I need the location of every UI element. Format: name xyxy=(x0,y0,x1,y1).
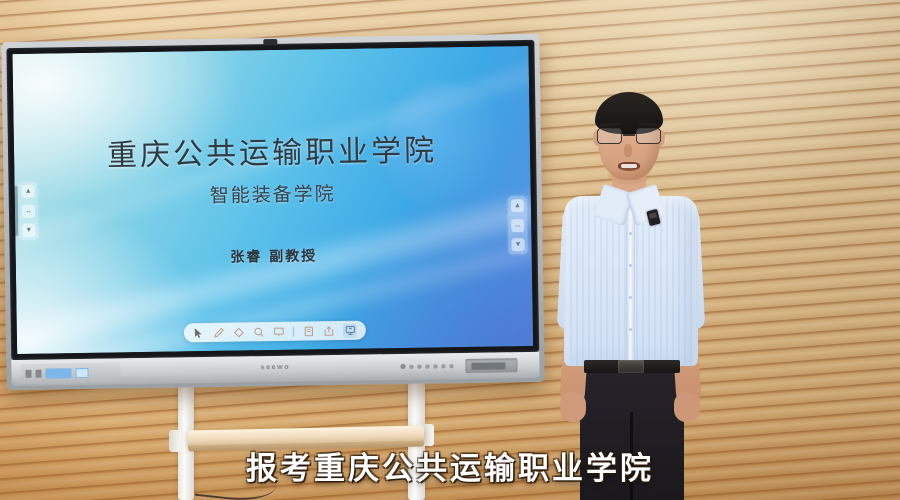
io-port-1[interactable] xyxy=(25,370,31,378)
magnifier-icon[interactable] xyxy=(253,326,264,337)
hw-button-4[interactable] xyxy=(433,364,437,368)
presenter-shirt-placket xyxy=(626,204,635,366)
io-sticker-white xyxy=(75,368,88,378)
io-port-2[interactable] xyxy=(35,370,41,378)
video-caption: 报考重庆公共运输职业学院 xyxy=(0,443,900,488)
presenter-hand-left xyxy=(560,392,586,422)
power-button[interactable] xyxy=(400,364,405,369)
presenter-belt-buckle xyxy=(618,360,644,373)
chevron-down-icon-right[interactable]: ▼ xyxy=(511,238,524,251)
presenter-person xyxy=(540,92,720,500)
glasses-lens-left xyxy=(597,128,622,144)
shirt-button-3 xyxy=(629,296,632,299)
shirt-button-2 xyxy=(629,264,632,267)
pen-icon[interactable] xyxy=(213,327,224,338)
shirt-button-4 xyxy=(629,328,632,331)
cursor-icon[interactable] xyxy=(193,327,204,338)
hw-button-3[interactable] xyxy=(425,364,429,368)
share-icon[interactable] xyxy=(323,325,334,336)
glasses-bridge xyxy=(623,134,635,136)
display-brand-logo: seewo xyxy=(261,364,291,371)
chevron-down-icon[interactable]: ▼ xyxy=(22,224,35,237)
hw-button-6[interactable] xyxy=(449,364,453,368)
document-icon[interactable] xyxy=(303,325,314,336)
display-button-row[interactable] xyxy=(400,363,453,369)
annotation-toolbar[interactable] xyxy=(184,321,366,343)
chevron-up-icon-right[interactable]: ▲ xyxy=(511,199,524,212)
hw-button-1[interactable] xyxy=(409,364,413,368)
slide-title: 重庆公共运输职业学院 xyxy=(14,124,531,176)
glasses-icon xyxy=(596,128,662,145)
hw-button-5[interactable] xyxy=(441,364,445,368)
video-frame: 重庆公共运输职业学院 智能装备学院 张睿 副教授 ▲ ↔ ▼ ▲ ↔ ▼ xyxy=(0,0,900,500)
presenter-chin-shade xyxy=(608,168,650,184)
cast-icon[interactable] xyxy=(343,323,357,337)
presenter-nose xyxy=(624,144,632,157)
screen-icon[interactable] xyxy=(273,326,284,337)
io-sticker-blue xyxy=(45,368,71,378)
display-screen[interactable]: 重庆公共运输职业学院 智能装备学院 张睿 副教授 ▲ ↔ ▼ ▲ ↔ ▼ xyxy=(12,46,533,354)
hw-button-2[interactable] xyxy=(417,364,421,368)
presenter-hand-right xyxy=(674,392,700,422)
eraser-icon[interactable] xyxy=(233,326,244,337)
chevron-up-icon[interactable]: ▲ xyxy=(22,185,35,198)
glasses-lens-right xyxy=(636,128,661,144)
side-panel-right[interactable]: ▲ ↔ ▼ xyxy=(508,196,528,254)
interactive-flat-panel[interactable]: 重庆公共运输职业学院 智能装备学院 张睿 副教授 ▲ ↔ ▼ ▲ ↔ ▼ xyxy=(1,34,544,390)
display-io-panel-left[interactable] xyxy=(20,362,120,384)
shirt-button-1 xyxy=(629,232,632,235)
resize-icon[interactable]: ↔ xyxy=(22,204,35,217)
camera-notch xyxy=(263,39,277,45)
toolbar-separator xyxy=(293,326,294,336)
resize-icon-right[interactable]: ↔ xyxy=(511,219,524,232)
side-panel-left[interactable]: ▲ ↔ ▼ xyxy=(18,182,38,240)
display-port-panel[interactable] xyxy=(465,358,517,373)
